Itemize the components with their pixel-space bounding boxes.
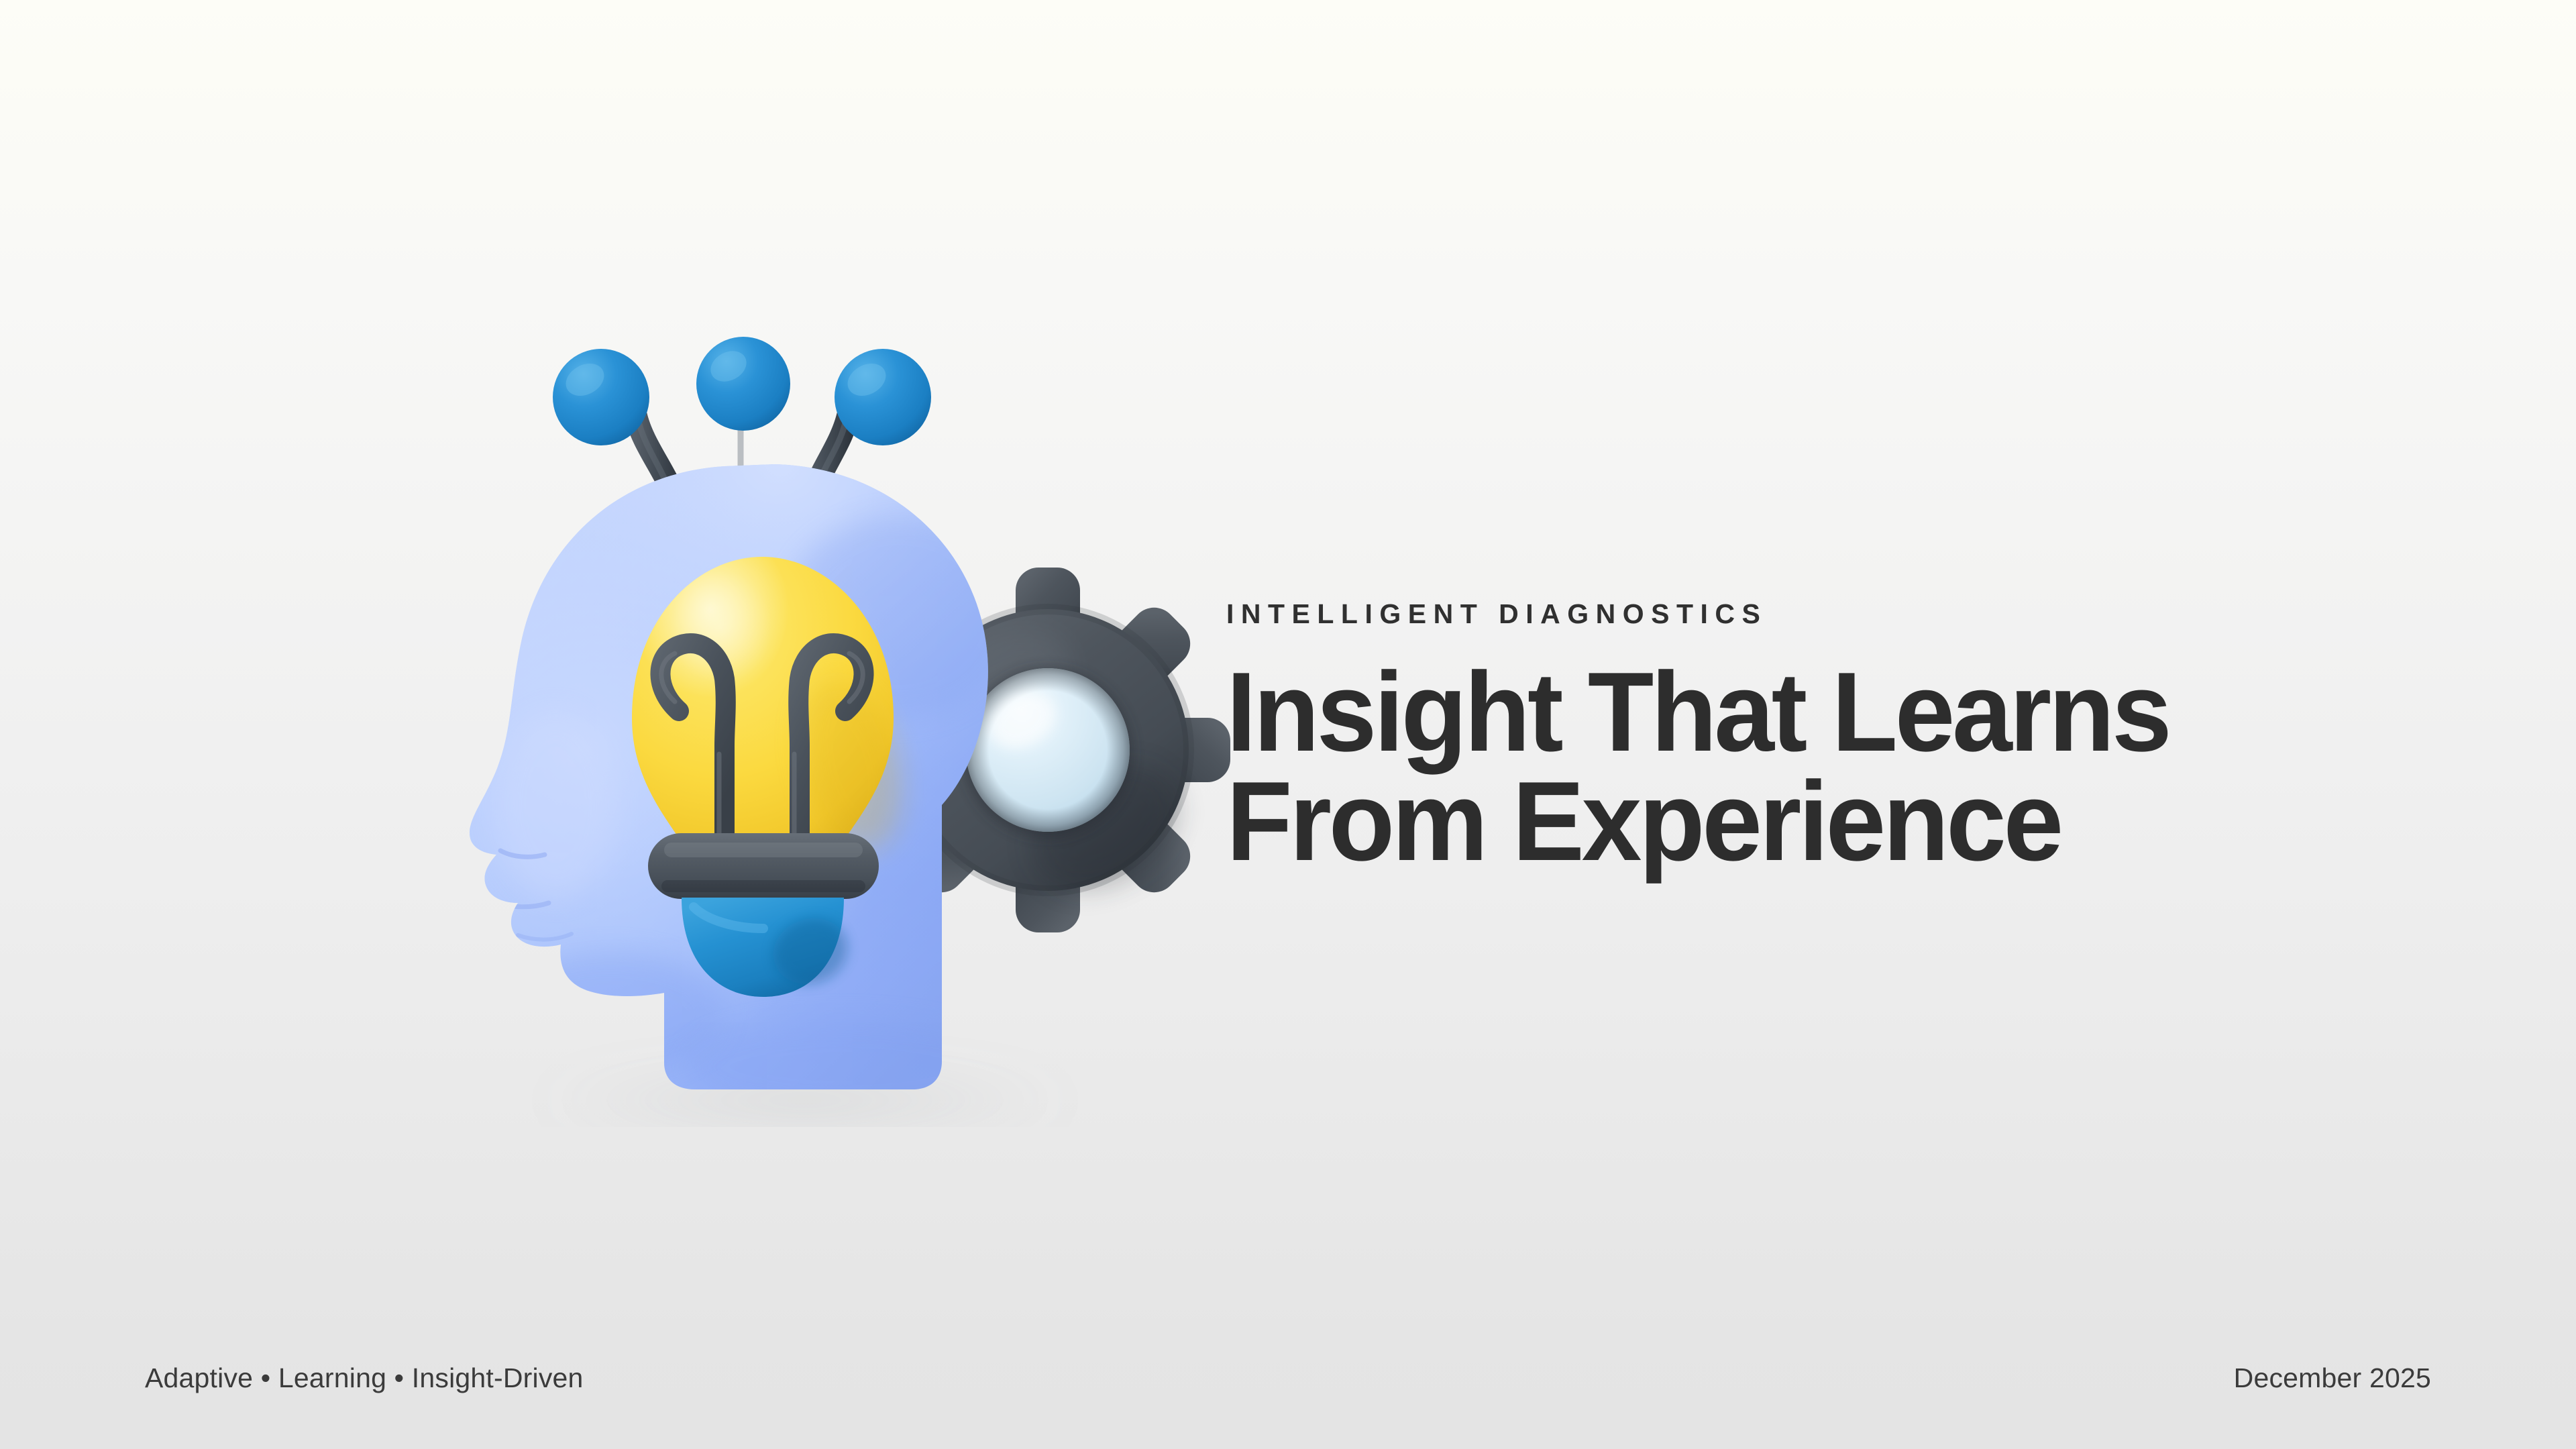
footer-tagline: Adaptive • Learning • Insight-Driven (145, 1362, 584, 1394)
antenna-tip-right (835, 349, 931, 445)
antenna-tip-left (553, 349, 649, 445)
eyebrow-label: INTELLIGENT DIAGNOSTICS (1226, 600, 2501, 628)
slide-canvas: INTELLIGENT DIAGNOSTICS Insight That Lea… (0, 0, 2576, 1449)
hero-illustration (443, 335, 1248, 1127)
gear-hub (963, 668, 1132, 837)
footer-date: December 2025 (2234, 1362, 2431, 1394)
antenna-tip-center (696, 337, 790, 431)
headline-block: INTELLIGENT DIAGNOSTICS Insight That Lea… (1226, 600, 2501, 876)
headline-line-1: Insight That Learns (1226, 657, 2450, 767)
headline-line-2: From Experience (1226, 767, 2450, 876)
bulb-base (648, 833, 879, 899)
